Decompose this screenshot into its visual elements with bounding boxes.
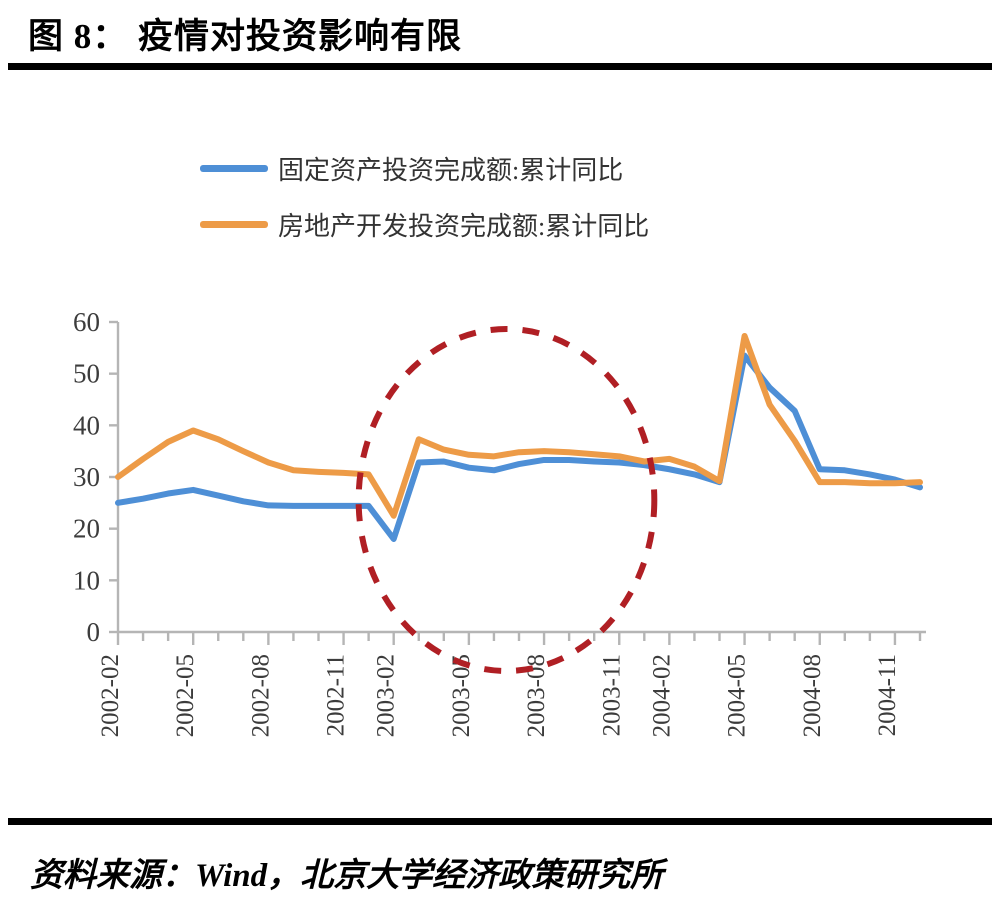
legend-label-0: 固定资产投资完成额:累计同比 <box>278 150 623 187</box>
x-axis-tick-label: 2002-11 <box>323 654 350 736</box>
x-axis-tick-label: 2004-05 <box>724 654 751 737</box>
y-axis-tick-label: 30 <box>73 462 100 492</box>
y-axis-tick-label: 40 <box>73 410 100 440</box>
y-axis-tick-label: 10 <box>73 565 100 595</box>
x-axis-labels: 2002-022002-052002-082002-112003-022003-… <box>97 654 901 737</box>
legend-swatch-line-icon-0 <box>200 165 268 172</box>
y-axis-labels: 0102030405060 <box>73 307 100 647</box>
data-series-group <box>118 336 920 539</box>
y-axis-tick-label: 60 <box>73 307 100 337</box>
x-axis-tick-label: 2002-08 <box>247 654 274 737</box>
legend-item-1: 房地产开发投资完成额:累计同比 <box>200 196 850 252</box>
x-axis-tick-label: 2004-11 <box>874 654 901 736</box>
chart-legend: 固定资产投资完成额:累计同比 房地产开发投资完成额:累计同比 <box>200 140 850 252</box>
x-axis-tick-label: 2002-02 <box>97 654 124 737</box>
y-axis-tick-label: 0 <box>87 617 101 647</box>
legend-swatch-line-icon-1 <box>200 221 268 228</box>
source-divider-rule <box>8 818 992 825</box>
x-axis-tick-label: 2002-05 <box>172 654 199 737</box>
line-chart-svg: 0102030405060 2002-022002-052002-082002-… <box>0 280 1000 810</box>
legend-label-1: 房地产开发投资完成额:累计同比 <box>278 206 649 243</box>
y-axis-tick-label: 20 <box>73 514 100 544</box>
figure-source: 资料来源：Wind，北京大学经济政策研究所 <box>30 848 663 896</box>
x-axis-tick-label: 2003-11 <box>598 654 625 736</box>
figure-page: 图 8： 疫情对投资影响有限 固定资产投资完成额:累计同比 房地产开发投资完成额… <box>0 0 1000 908</box>
title-divider-rule <box>8 63 992 70</box>
x-axis-tick-label: 2003-05 <box>448 654 475 737</box>
x-axis-tick-label: 2004-02 <box>648 654 675 737</box>
x-axis-tick-label: 2003-02 <box>373 654 400 737</box>
figure-title: 图 8： 疫情对投资影响有限 <box>28 8 462 59</box>
highlight-ellipse-annotation <box>359 329 655 671</box>
chart-plot-area: 0102030405060 2002-022002-052002-082002-… <box>0 280 1000 810</box>
legend-item-0: 固定资产投资完成额:累计同比 <box>200 140 850 196</box>
x-axis-ticks <box>118 632 920 645</box>
x-axis-tick-label: 2004-08 <box>799 654 826 737</box>
y-axis-tick-label: 50 <box>73 359 100 389</box>
